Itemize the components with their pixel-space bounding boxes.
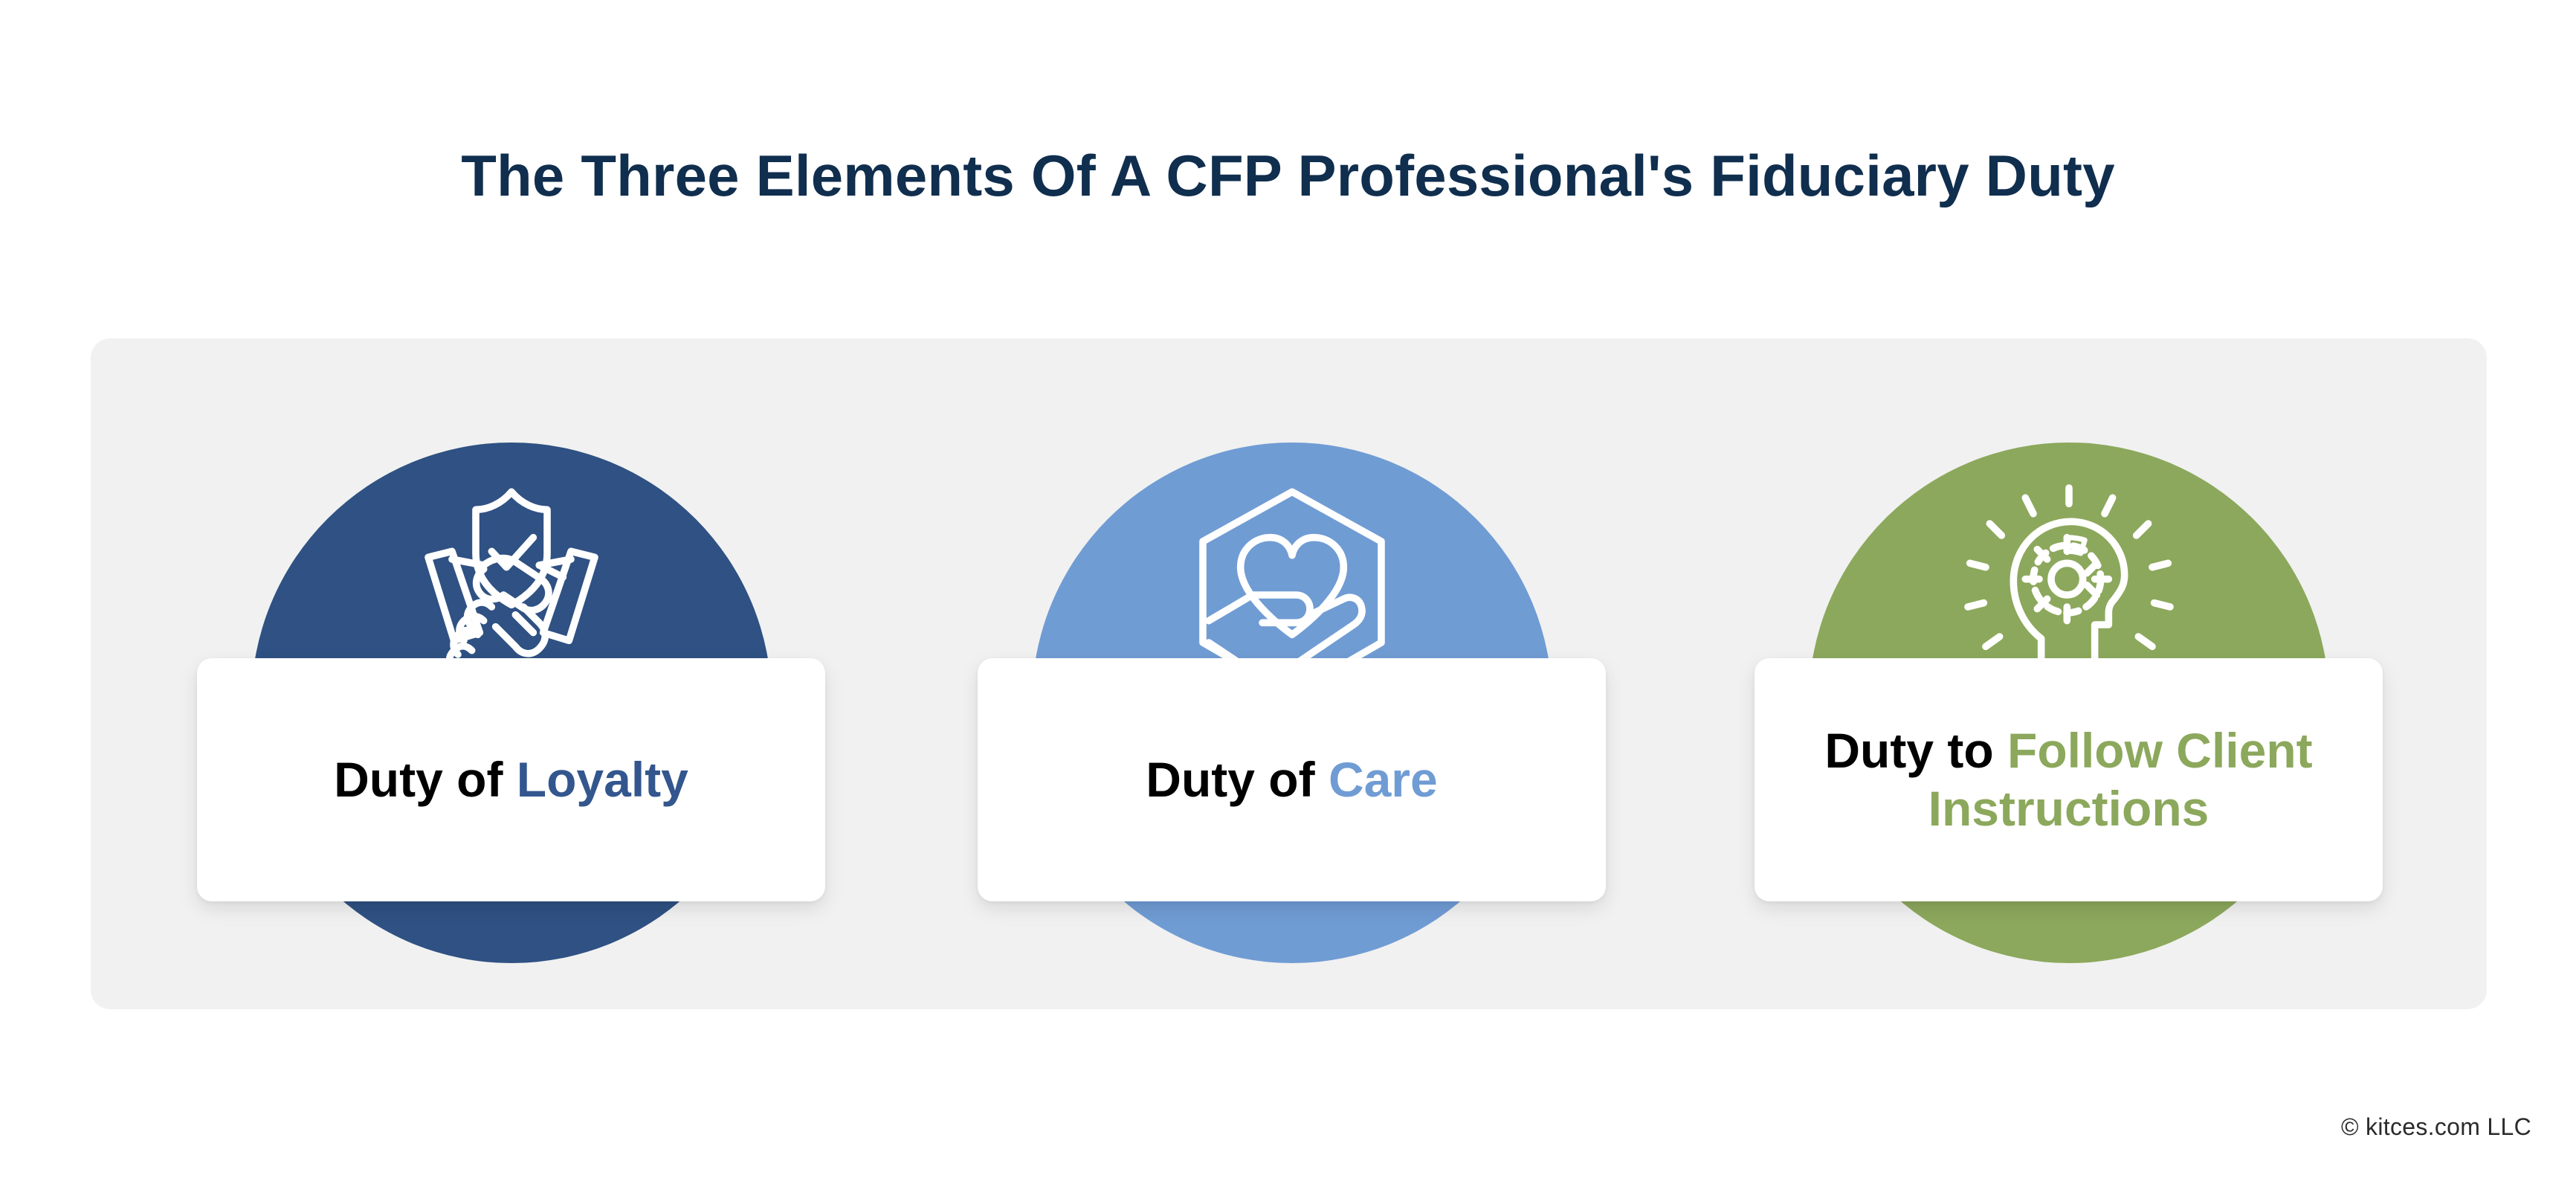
duty-card-label-loyalty: Duty of Loyalty xyxy=(334,751,688,809)
label-prefix: Duty to xyxy=(1824,723,2007,778)
duty-card-label-care: Duty of Care xyxy=(1146,751,1437,809)
label-prefix: Duty of xyxy=(1146,752,1329,807)
duty-column-care: Duty of Care xyxy=(978,338,1606,1009)
duty-card-follow[interactable]: Duty to Follow Client Instructions xyxy=(1755,658,2383,901)
copyright-footer: © kitces.com LLC xyxy=(2341,1113,2531,1141)
label-prefix: Duty of xyxy=(334,752,517,807)
duty-card-loyalty[interactable]: Duty of Loyalty xyxy=(197,658,825,901)
duty-card-group: Duty of Loyalty Duty of Care xyxy=(91,338,2487,1009)
duty-card-label-follow: Duty to Follow Client Instructions xyxy=(1777,722,2360,838)
duty-card-care[interactable]: Duty of Care xyxy=(978,658,1606,901)
duty-column-follow: Duty to Follow Client Instructions xyxy=(1755,338,2383,1009)
label-accent: Loyalty xyxy=(517,752,688,807)
page-title: The Three Elements Of A CFP Professional… xyxy=(0,146,2576,207)
duty-column-loyalty: Duty of Loyalty xyxy=(197,338,825,1009)
label-accent: Care xyxy=(1329,752,1438,807)
